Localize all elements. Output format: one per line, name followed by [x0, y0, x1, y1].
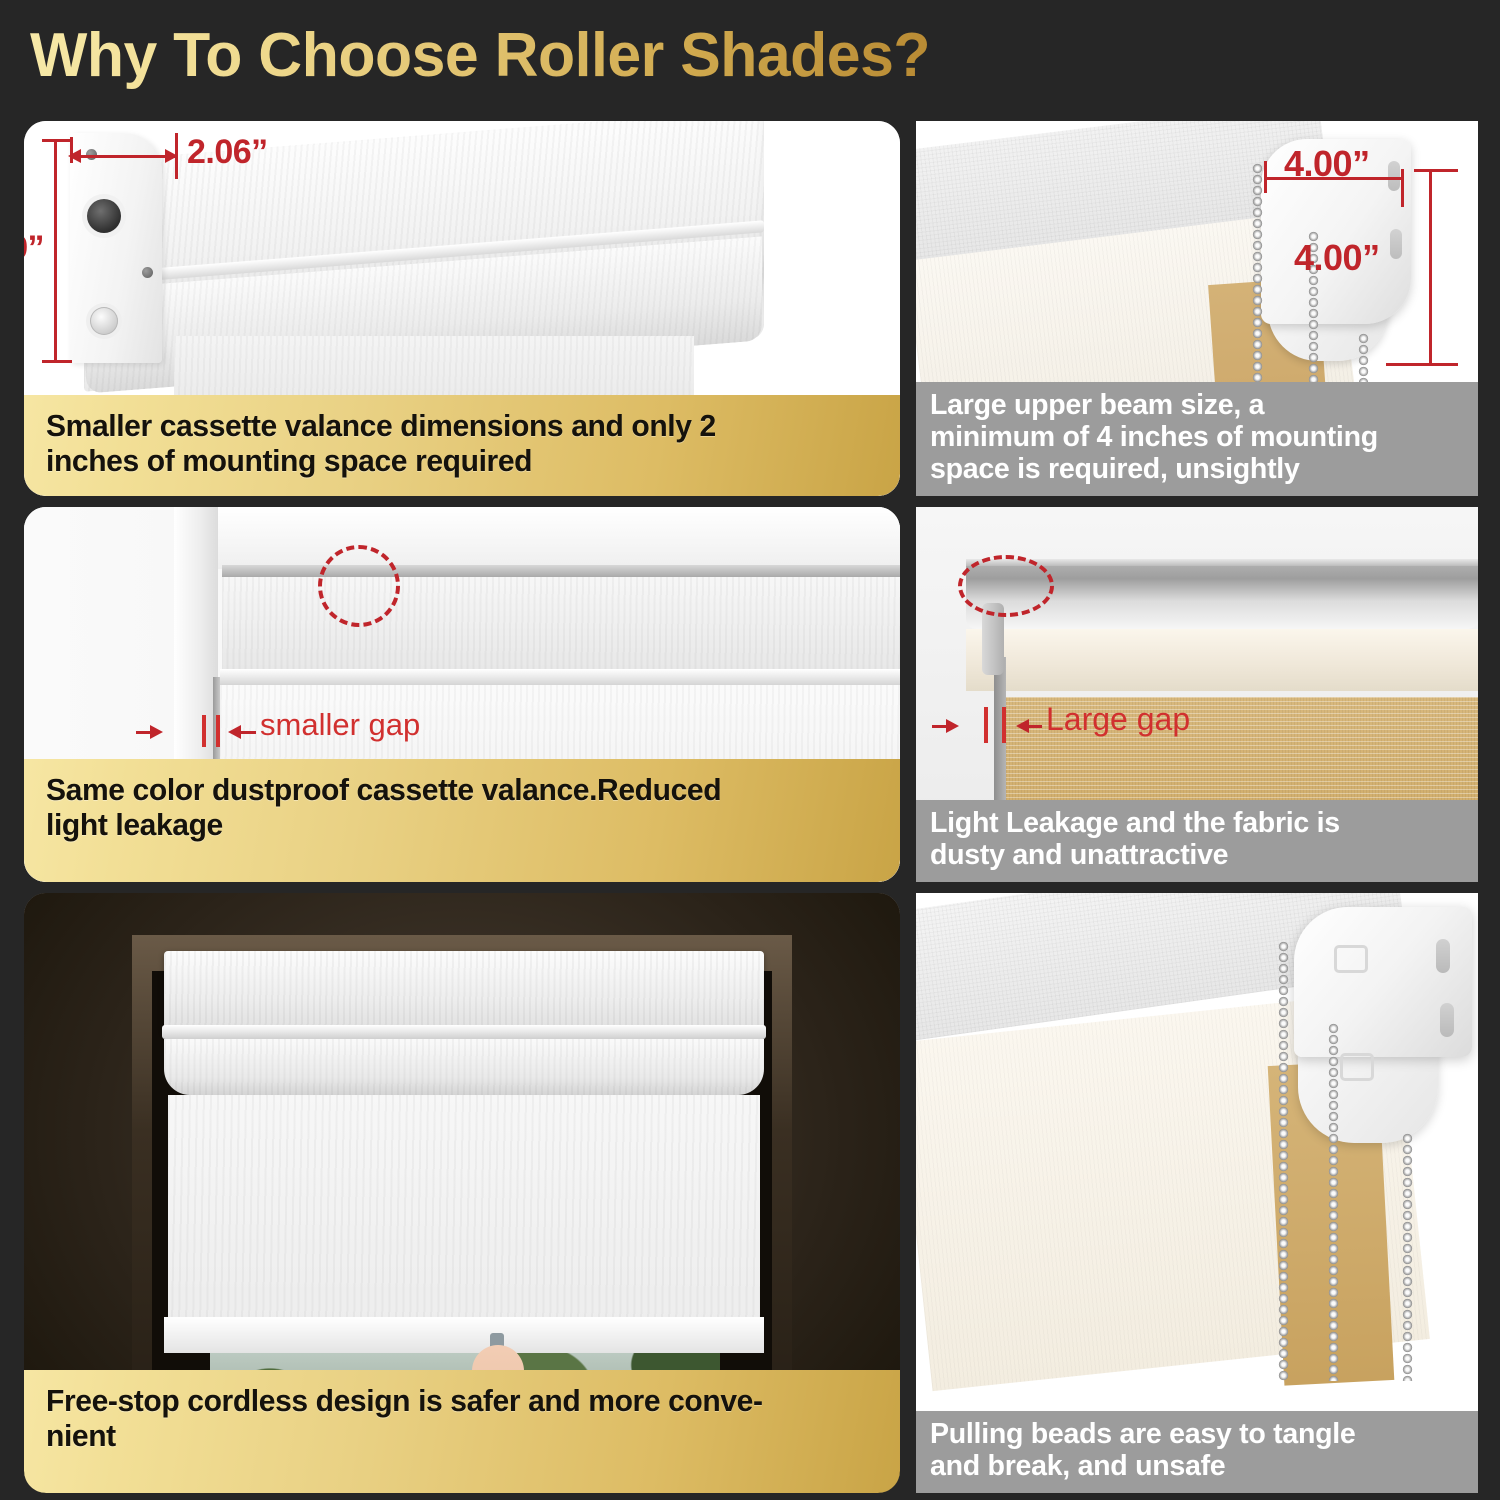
dimension-line-width [70, 155, 178, 158]
dimension-line-height [54, 139, 57, 363]
shade-headrail [162, 1025, 766, 1039]
highlight-circle-icon [958, 555, 1054, 617]
card-pro-smaller-gap: smaller gap Same color dustproof cassett… [24, 507, 900, 882]
gap-tick [984, 707, 988, 743]
dimension-tick-right [175, 133, 178, 179]
bead-chain [1278, 941, 1289, 1381]
shade-mid-rail [220, 669, 900, 685]
comparison-grid: 2.06” 5.49” Smaller cassette valance dim… [0, 112, 1500, 1500]
caption-pro-1: Smaller cassette valance dimensions and … [24, 395, 900, 496]
caption-line: Light Leakage and the fabric is [930, 808, 1456, 840]
caption-line: minimum of 4 inches of mounting [930, 422, 1456, 454]
bracket-slot-icon [1390, 229, 1402, 259]
bead-chain [1402, 1133, 1413, 1381]
bracket-slot-icon [1388, 161, 1400, 191]
dimension-label-width: 2.06” [187, 133, 268, 172]
caption-line: Large upper beam size, a [930, 390, 1456, 422]
infographic-page: Why To Choose Roller Shades? 2.06” [0, 0, 1500, 1500]
gap-leader-left [932, 725, 950, 728]
caption-pro-3: Free-stop cordless design is safer and m… [24, 1370, 900, 1493]
dimension-cap-bottom [1386, 363, 1458, 366]
gap-tick [1002, 707, 1006, 743]
caption-con-3: Pulling beads are easy to tangle and bre… [916, 1411, 1478, 1493]
shade-headrail-cover [164, 951, 764, 1033]
valance-endcap [70, 133, 162, 363]
gap-tick [216, 715, 220, 747]
bracket-slot-icon [1440, 1003, 1454, 1037]
dimension-line-height [1429, 169, 1432, 365]
caption-line: Smaller cassette valance dimensions and … [46, 409, 866, 443]
caption-line: nient [46, 1419, 866, 1453]
screw-icon [142, 267, 153, 278]
card-pro-cordless: Free-stop cordless design is safer and m… [24, 893, 900, 1493]
gap-leader-right [1028, 725, 1042, 728]
card-con-large-gap: Large gap Light Leakage and the fabric i… [916, 507, 1478, 882]
shade-fabric [168, 1095, 760, 1323]
caption-line: light leakage [46, 808, 866, 842]
caption-line: Pulling beads are easy to tangle [930, 1419, 1456, 1451]
dimension-label-width: 4.00” [1284, 143, 1370, 185]
dimension-tick-right [1401, 169, 1404, 207]
dimension-cap-top [1414, 169, 1458, 172]
bracket-emblem-icon [1340, 1053, 1374, 1081]
highlight-circle-icon [318, 545, 400, 627]
endcap-pin-icon [90, 307, 118, 335]
roller-tube-edge [966, 559, 1478, 566]
caption-line: Free-stop cordless design is safer and m… [46, 1384, 866, 1418]
gap-leader-right [240, 731, 256, 734]
gap-leader-left [136, 731, 154, 734]
window-frame-top [174, 507, 900, 569]
caption-line: and break, and unsafe [930, 1451, 1456, 1483]
caption-con-2: Light Leakage and the fabric is dusty an… [916, 800, 1478, 882]
caption-line: dusty and unattractive [930, 840, 1456, 872]
caption-con-1: Large upper beam size, a minimum of 4 in… [916, 382, 1478, 496]
dimension-label-height: 4.00” [1294, 237, 1380, 279]
caption-line: inches of mounting space required [46, 444, 866, 478]
shade-roll [164, 1039, 764, 1095]
photo-pull-beads [916, 893, 1478, 1493]
dimension-cap-top [42, 139, 72, 142]
gap-label: Large gap [1046, 701, 1190, 738]
endcap-socket-icon [87, 199, 121, 233]
gap-tick [202, 715, 206, 747]
dimension-label-height: 5.49” [24, 229, 44, 268]
bead-chain [1328, 1023, 1339, 1381]
valance-strip [966, 629, 1478, 691]
caption-pro-2: Same color dustproof cassette valance.Re… [24, 759, 900, 882]
shade-bottom-bar [164, 1317, 764, 1353]
dimension-cap-bottom [42, 360, 72, 363]
card-pro-cassette-dimensions: 2.06” 5.49” Smaller cassette valance dim… [24, 121, 900, 496]
bracket-slot-icon [1436, 939, 1450, 973]
card-con-pull-beads: Pulling beads are easy to tangle and bre… [916, 893, 1478, 1493]
page-title: Why To Choose Roller Shades? [30, 20, 930, 91]
card-con-beam-size: 4.00” 4.00” Large upper beam size, a min… [916, 121, 1478, 496]
bracket-emblem-icon [1334, 945, 1368, 973]
dimension-tick-left [1264, 161, 1267, 193]
caption-line: Same color dustproof cassette valance.Re… [46, 773, 866, 807]
caption-line: space is required, unsightly [930, 454, 1456, 486]
gap-label: smaller gap [260, 707, 420, 743]
